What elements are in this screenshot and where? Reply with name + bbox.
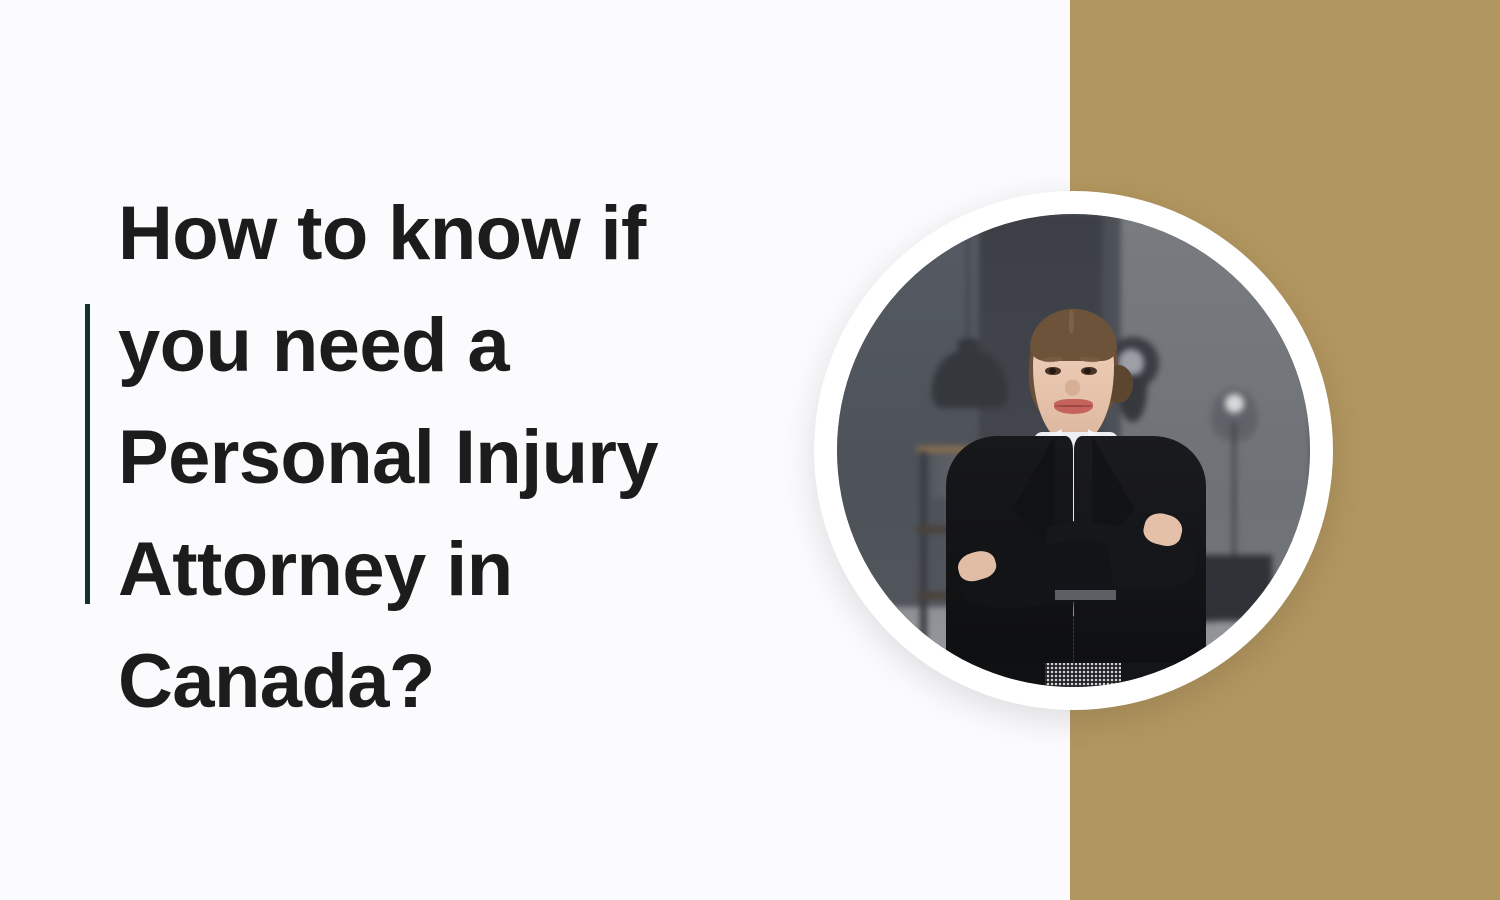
portrait-image [837, 214, 1310, 687]
sleeve-buttons [1055, 590, 1116, 600]
vertical-accent-bar [85, 304, 90, 604]
banner-root: How to know if you need a Personal Injur… [0, 0, 1500, 900]
person-figure [837, 214, 1310, 687]
office-photo [837, 214, 1310, 687]
portrait-frame [814, 191, 1333, 710]
nose [1065, 380, 1080, 396]
page-title: How to know if you need a Personal Injur… [118, 178, 758, 738]
headline-block: How to know if you need a Personal Injur… [118, 178, 758, 738]
